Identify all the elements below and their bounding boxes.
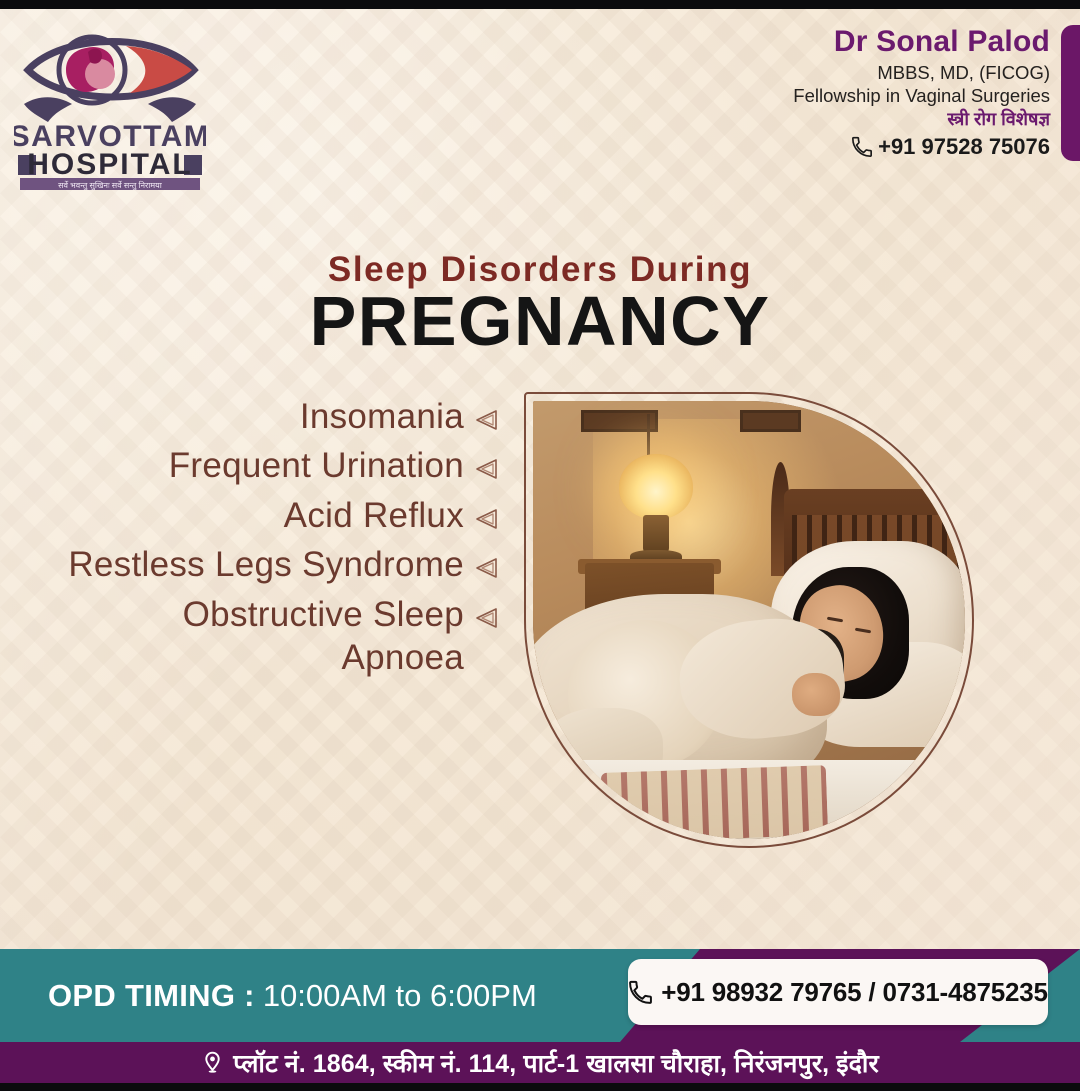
triangle-arrow-left-icon — [474, 605, 500, 631]
logo-name-line2: HOSPITAL — [27, 148, 192, 181]
symptom-item: Acid Reflux — [60, 494, 500, 537]
phone-icon — [851, 136, 873, 158]
triangle-arrow-left-icon — [474, 456, 500, 482]
opd-timing-band: OPD TIMING : 10:00AM to 6:00PM +91 98932… — [0, 949, 1080, 1042]
doctor-name: Dr Sonal Palod — [793, 24, 1050, 59]
symptom-item: Insomania — [60, 395, 500, 438]
symptom-label: Acid Reflux — [284, 494, 464, 537]
address-band: प्लॉट नं. 1864, स्कीम नं. 114, पार्ट-1 ख… — [0, 1042, 1080, 1083]
symptom-item: Restless Legs Syndrome — [60, 543, 500, 586]
location-pin-icon — [201, 1051, 224, 1074]
triangle-arrow-left-icon — [474, 506, 500, 532]
symptom-label: Restless Legs Syndrome — [68, 543, 464, 586]
logo-tagline: सर्वे भवन्तु सुखिनः सर्वे सन्तु निरामया — [58, 180, 163, 190]
contact-phone-number: +91 98932 79765 / 0731-4875235 — [661, 977, 1048, 1008]
hospital-logo: SARVOTTAM HOSPITAL सर्वे भवन्तु सुखिनः स… — [14, 18, 206, 190]
top-black-strip — [0, 0, 1080, 9]
eye-with-baby-and-hands-logo — [24, 37, 196, 122]
photo-container — [524, 392, 974, 848]
doctor-phone-row[interactable]: +91 97528 75076 — [793, 134, 1050, 160]
phone-icon — [628, 980, 653, 1005]
doctor-degrees: MBBS, MD, (FICOG) — [793, 62, 1050, 84]
symptom-list: Insomania Frequent Urination Acid Reflux… — [60, 395, 500, 685]
doctor-fellowship: Fellowship in Vaginal Surgeries — [793, 85, 1050, 107]
clinic-address: प्लॉट नं. 1864, स्कीम नं. 114, पार्ट-1 ख… — [233, 1046, 879, 1080]
symptom-item: Obstructive Sleep Apnoea — [60, 593, 500, 680]
symptom-label: Frequent Urination — [169, 444, 464, 487]
triangle-arrow-left-icon — [474, 555, 500, 581]
symptom-label: Insomania — [300, 395, 464, 438]
triangle-arrow-left-icon — [474, 407, 500, 433]
contact-phone-pill[interactable]: +91 98932 79765 / 0731-4875235 — [628, 959, 1048, 1025]
right-purple-accent-tab — [1061, 25, 1080, 161]
doctor-specialty-hindi: स्त्री रोग विशेषज्ञ — [793, 109, 1050, 130]
opd-timing-text: OPD TIMING : 10:00AM to 6:00PM — [48, 949, 537, 1042]
doctor-info-block: Dr Sonal Palod MBBS, MD, (FICOG) Fellows… — [793, 24, 1050, 160]
poster-canvas: SARVOTTAM HOSPITAL सर्वे भवन्तु सुखिनः स… — [0, 0, 1080, 1091]
symptom-item: Frequent Urination — [60, 444, 500, 487]
bottom-black-strip — [0, 1083, 1080, 1091]
symptom-label: Obstructive Sleep Apnoea — [60, 593, 464, 680]
opd-timing-value: 10:00AM to 6:00PM — [263, 978, 537, 1014]
doctor-phone-number: +91 97528 75076 — [878, 134, 1050, 160]
headline-title: PREGNANCY — [0, 281, 1080, 361]
photo-outline-ring — [524, 392, 974, 848]
opd-timing-label: OPD TIMING : — [48, 978, 255, 1014]
